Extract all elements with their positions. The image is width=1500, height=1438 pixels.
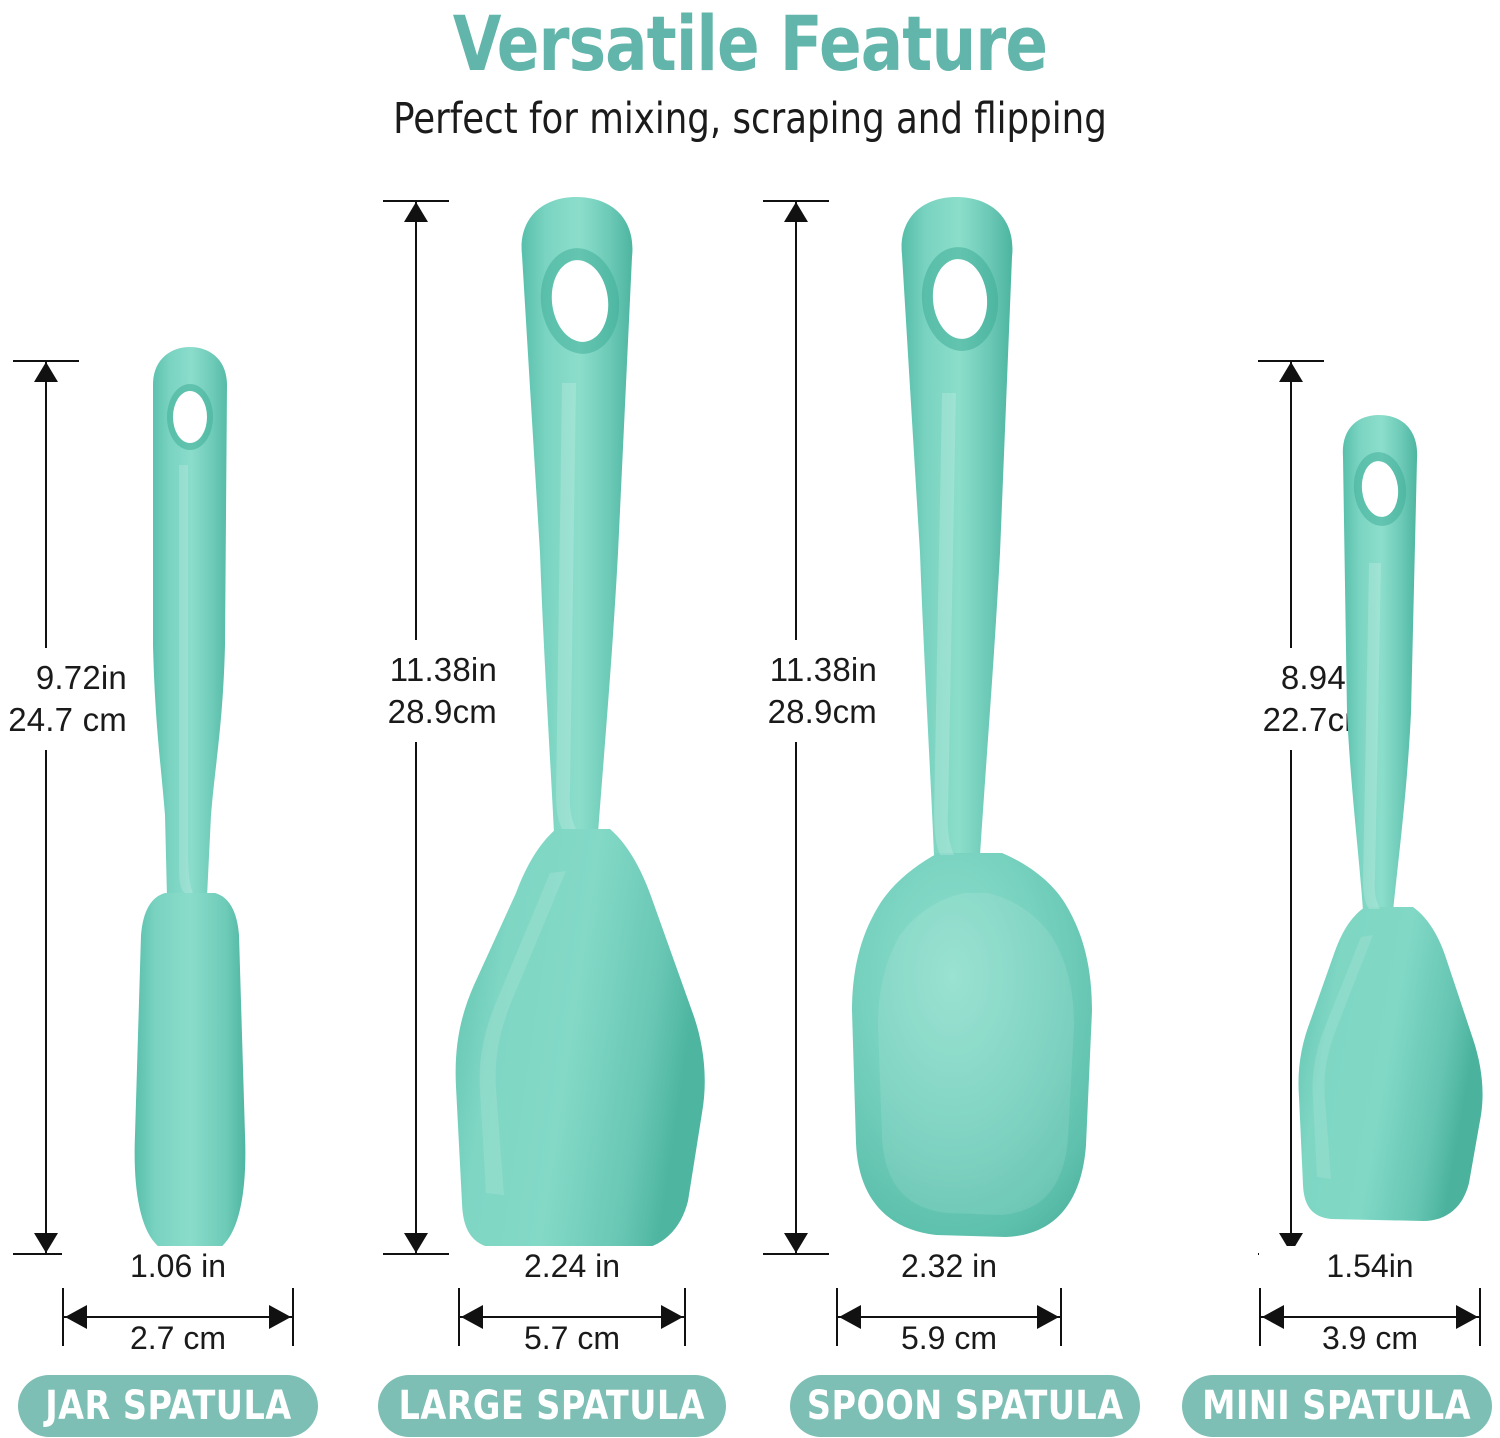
arrow-up-icon <box>784 202 808 222</box>
label-pill-large-spatula[interactable]: LARGE SPATULA <box>378 1375 726 1437</box>
width-dimension-spoon-spatula: 2.32 in 5.9 cm <box>836 1280 1062 1354</box>
label-text-spoon-spatula: SPOON SPATULA <box>807 1383 1124 1429</box>
arrow-up-icon <box>34 362 58 382</box>
product-image-jar-spatula <box>95 345 285 1280</box>
arrow-up-icon <box>404 202 428 222</box>
height-dimension-jar-spatula: 9.72in 24.7 cm <box>0 360 105 1255</box>
label-pill-spoon-spatula[interactable]: SPOON SPATULA <box>790 1375 1140 1437</box>
page-subtitle: Perfect for mixing, scraping and flippin… <box>60 98 1440 141</box>
jar-spatula-svg <box>95 345 285 1280</box>
arrow-up-icon <box>1279 362 1303 382</box>
product-image-spoon-spatula <box>830 193 1120 1273</box>
hang-hole-icon <box>173 391 207 443</box>
spoon-spatula-svg <box>830 193 1120 1273</box>
label-text-jar-spatula: JAR SPATULA <box>45 1383 291 1429</box>
arrow-down-icon <box>404 1233 428 1253</box>
arrow-down-icon <box>34 1233 58 1253</box>
width-dimension-mini-spatula: 1.54in 3.9 cm <box>1259 1280 1481 1354</box>
scoop-inner-shade <box>878 893 1074 1215</box>
product-column-mini-spatula: 8.94in 22.7cm <box>1125 195 1500 1285</box>
mini-spatula-svg <box>1295 413 1500 1268</box>
label-text-mini-spatula: MINI SPATULA <box>1203 1383 1472 1429</box>
label-pill-mini-spatula[interactable]: MINI SPATULA <box>1182 1375 1492 1437</box>
product-image-mini-spatula <box>1295 413 1500 1268</box>
product-columns: 9.72in 24.7 cm <box>0 195 1500 1285</box>
header: Versatile Feature Perfect for mixing, sc… <box>0 0 1500 141</box>
product-column-spoon-spatula: 11.38in 28.9cm <box>750 195 1125 1285</box>
product-labels: JAR SPATULA LARGE SPATULA SPOON SPATULA … <box>0 1375 1500 1438</box>
width-dimension-large-spatula: 2.24 in 5.7 cm <box>458 1280 686 1354</box>
width-dimension-jar-spatula: 1.06 in 2.7 cm <box>62 1280 294 1354</box>
label-text-large-spatula: LARGE SPATULA <box>399 1383 705 1429</box>
infographic-page: Versatile Feature Perfect for mixing, sc… <box>0 0 1500 1438</box>
dimension-axis <box>1290 360 1292 1255</box>
arrow-down-icon <box>784 1233 808 1253</box>
label-pill-jar-spatula[interactable]: JAR SPATULA <box>18 1375 318 1437</box>
dimension-axis <box>45 360 47 1255</box>
page-title: Versatile Feature <box>60 6 1440 82</box>
jar-spatula-blade <box>135 893 246 1263</box>
